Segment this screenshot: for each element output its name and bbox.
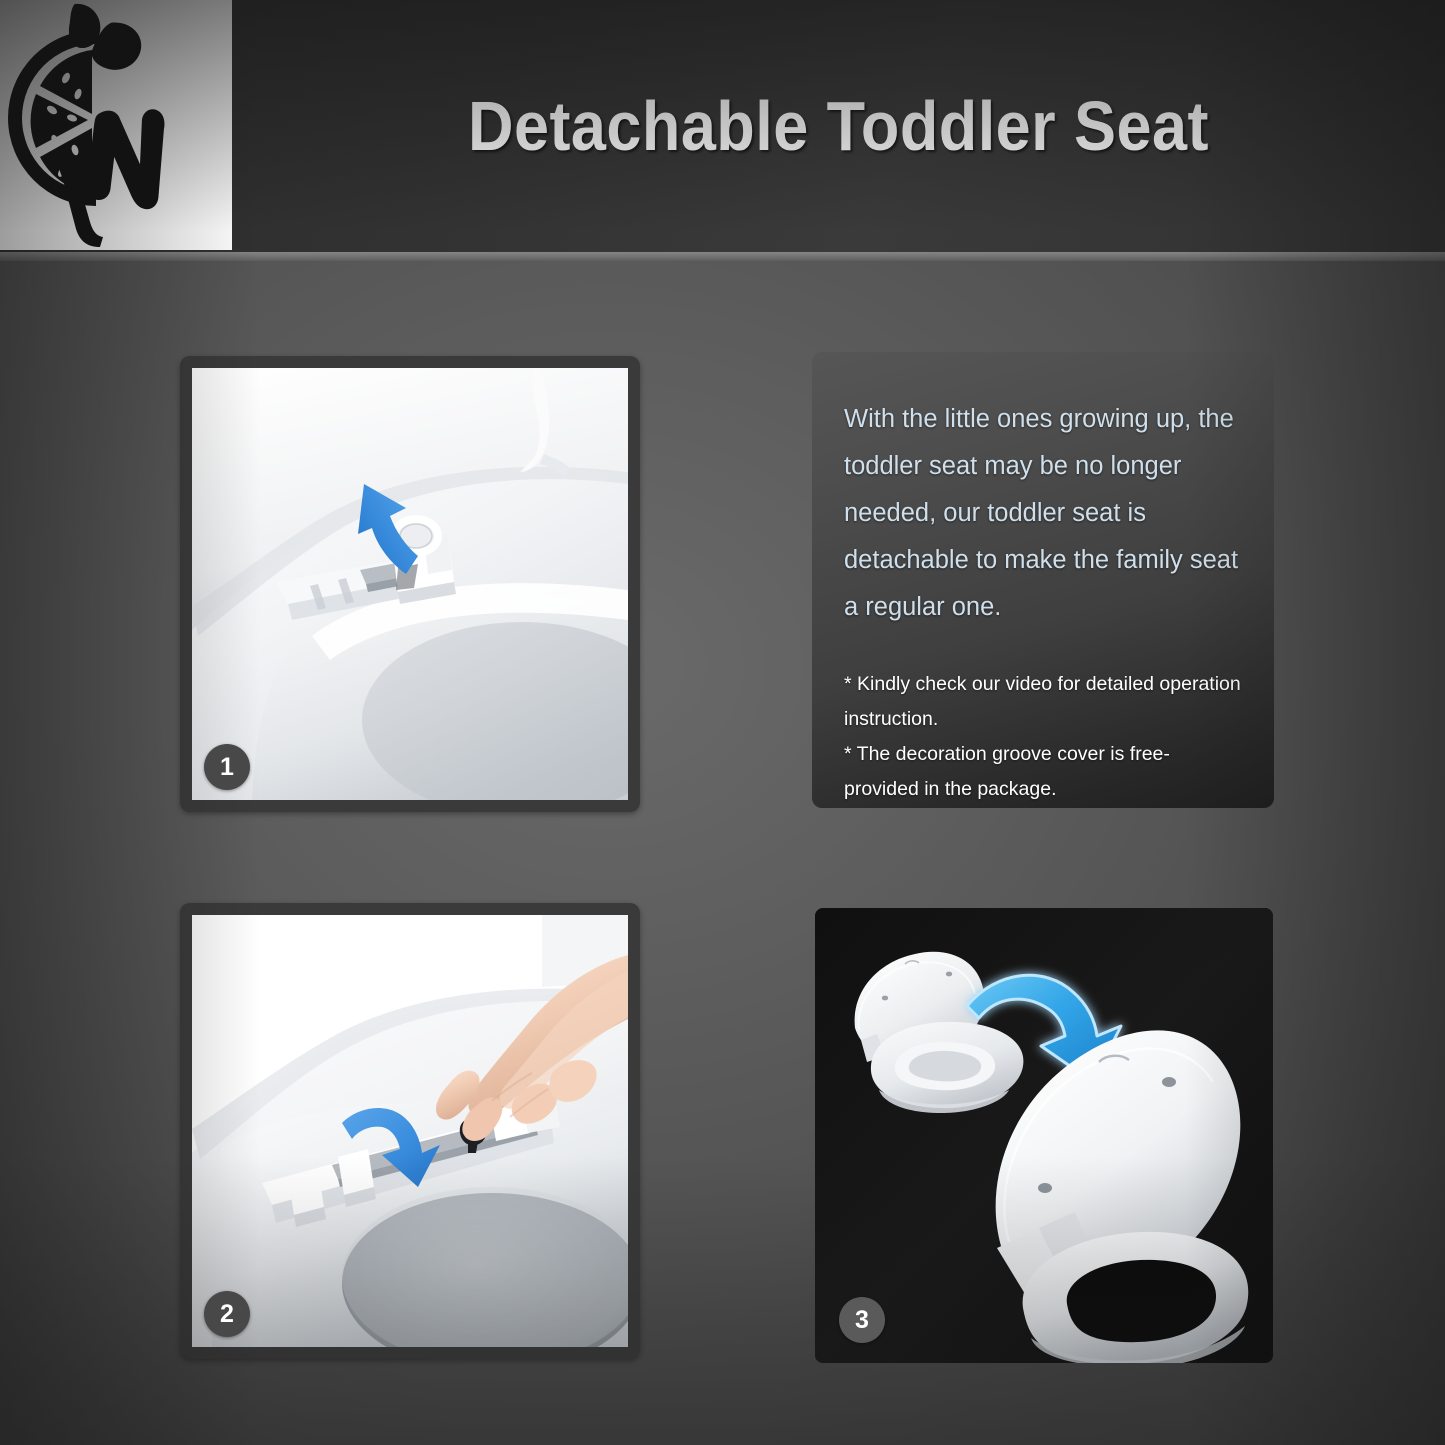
step-1-photo [192,368,628,800]
toilet-seat-hinge-illustration [192,368,628,800]
seat-transformation-illustration [815,908,1273,1363]
page-title: Detachable Toddler Seat [293,0,1385,252]
brand-logo [0,0,232,250]
step-2-image-panel: 2 [180,903,640,1359]
note-2: * The decoration groove cover is free-pr… [844,737,1244,807]
hand-removing-hinge-rod-illustration [192,915,628,1347]
step-3-photo [815,908,1273,1363]
step-3-image-panel: 3 [815,908,1273,1363]
step-2-badge: 2 [204,1291,250,1337]
note-1: * Kindly check our video for detailed op… [844,667,1244,737]
lead-paragraph: With the little ones growing up, the tod… [844,396,1244,631]
step-1-badge-label: 1 [220,753,234,782]
step-3-badge-label: 3 [855,1306,869,1335]
step-1-badge: 1 [204,744,250,790]
lemon-slice-1m-logo-icon [0,0,232,250]
step-2-photo [192,915,628,1347]
step-2-badge-label: 2 [220,1300,234,1329]
infographic-page: Detachable Toddler Seat [0,0,1445,1445]
step-1-image-panel: 1 [180,356,640,812]
header-underline [0,252,1445,261]
description-card: With the little ones growing up, the tod… [812,352,1274,808]
step-3-badge: 3 [839,1297,885,1343]
